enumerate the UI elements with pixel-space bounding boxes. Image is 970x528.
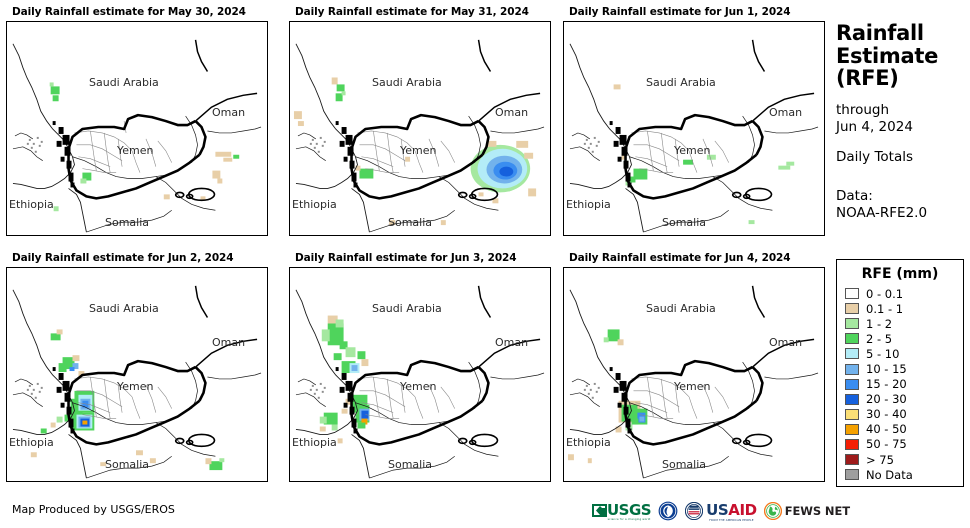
map-graphic [564,22,824,235]
map-graphic [7,268,267,481]
map-canvas[interactable]: Saudi Arabia Oman Yemen Ethiopia Somalia [6,21,268,236]
through-label: through [836,102,968,119]
legend-swatch-icon [845,439,859,450]
usgs-tagline: science for a changing world [608,519,651,522]
legend-label: 40 - 50 [866,422,907,436]
legend-item[interactable]: 2 - 5 [845,331,963,346]
panel-title: Daily Rainfall estimate for May 31, 2024 [295,6,557,18]
title-line-2: Estimate [836,45,968,68]
legend-swatch-icon [845,333,859,344]
legend-item[interactable]: 5 - 10 [845,346,963,361]
legend-label: 15 - 20 [866,377,907,391]
legend-item[interactable]: 40 - 50 [845,422,963,437]
map-canvas[interactable]: Saudi Arabia Oman Yemen Ethiopia Somalia [563,267,825,482]
title-line-3: (RFE) [836,67,968,90]
map-panel-4: Daily Rainfall estimate for Jun 2, 2024 [6,252,274,482]
legend-item[interactable]: 0.1 - 1 [845,301,963,316]
legend-label: 10 - 15 [866,362,907,376]
fews-net-globe-icon [764,502,782,520]
legend-item[interactable]: 30 - 40 [845,407,963,422]
legend-item[interactable]: 0 - 0.1 [845,286,963,301]
legend-swatch-icon [845,318,859,329]
legend-swatch-icon [845,454,859,465]
totals-label: Daily Totals [836,149,968,166]
fews-net-wordmark: FEWS NET [785,504,850,518]
panel-title: Daily Rainfall estimate for Jun 1, 2024 [569,6,831,18]
rfe-raster [31,329,225,470]
usaid-seal-icon [685,502,703,520]
data-source: NOAA-RFE2.0 [836,205,968,222]
legend-label: 20 - 30 [866,392,907,406]
panel-title: Daily Rainfall estimate for Jun 3, 2024 [295,252,557,264]
logo-strip: USGS science for a changing world USAID … [592,498,850,524]
legend-label: 1 - 2 [866,317,892,331]
map-graphic [7,22,267,235]
legend-item[interactable]: 50 - 75 [845,437,963,452]
map-panel-1: Daily Rainfall estimate for May 30, 2024 [6,6,274,236]
legend-panel: RFE (mm) 0 - 0.1 0.1 - 1 1 - 2 2 - 5 5 -… [836,259,964,487]
legend-item[interactable]: > 75 [845,452,963,467]
usgs-logo[interactable]: USGS science for a changing world [592,501,651,522]
map-canvas[interactable]: Saudi Arabia Oman Yemen Ethiopia Somalia [6,267,268,482]
legend-label: 5 - 10 [866,347,899,361]
usgs-wordmark: USGS [607,501,651,519]
legend-label: 2 - 5 [866,332,892,346]
legend-swatch-icon [845,424,859,435]
legend-item[interactable]: 15 - 20 [845,377,963,392]
panel-title: Daily Rainfall estimate for Jun 2, 2024 [12,252,274,264]
usaid-logo[interactable]: USAID FROM THE AMERICAN PEOPLE [685,501,757,522]
legend-label: 50 - 75 [866,437,907,451]
noaa-seal-icon [658,501,678,521]
map-canvas[interactable]: Saudi Arabia Oman Yemen Ethiopia Somalia [563,21,825,236]
through-block: through Jun 4, 2024 [836,102,968,136]
title-line-1: Rainfall [836,22,968,45]
noaa-logo[interactable] [658,501,678,521]
legend-label: 0.1 - 1 [866,302,903,316]
legend-label: > 75 [866,453,894,467]
map-panel-5: Daily Rainfall estimate for Jun 3, 2024 [289,252,557,482]
legend-swatch-icon [845,288,859,299]
legend-item[interactable]: 10 - 15 [845,361,963,376]
legend-swatch-icon [845,364,859,375]
legend-swatch-icon [845,394,859,405]
page-title: Rainfall Estimate (RFE) [836,22,968,90]
usaid-tagline: FROM THE AMERICAN PEOPLE [709,519,753,522]
data-label: Data: [836,188,968,205]
title-block: Rainfall Estimate (RFE) through Jun 4, 2… [836,22,968,221]
map-panel-3: Daily Rainfall estimate for Jun 1, 2024 [563,6,831,236]
legend-label: 30 - 40 [866,407,907,421]
map-graphic [290,22,550,235]
legend-swatch-icon [845,379,859,390]
legend-swatch-icon [845,303,859,314]
usaid-wordmark: USAID [706,501,757,519]
fews-net-logo[interactable]: FEWS NET [764,502,850,520]
usgs-mark-icon [592,503,607,520]
map-canvas[interactable]: Saudi Arabia Oman Yemen Ethiopia Somalia [289,267,551,482]
map-canvas[interactable]: Saudi Arabia Oman Yemen Ethiopia Somalia [289,21,551,236]
legend-label: 0 - 0.1 [866,287,903,301]
legend-item[interactable]: 1 - 2 [845,316,963,331]
legend-swatch-icon [845,348,859,359]
panel-title: Daily Rainfall estimate for May 30, 2024 [12,6,274,18]
legend-label: No Data [866,468,913,482]
map-graphic [290,268,550,481]
map-credit: Map Produced by USGS/EROS [12,503,175,516]
rfe-raster [614,84,795,224]
legend-title: RFE (mm) [837,266,963,282]
legend-item[interactable]: 20 - 30 [845,392,963,407]
legend-swatch-icon [845,469,859,480]
map-panel-2: Daily Rainfall estimate for May 31, 2024 [289,6,557,236]
map-panel-6: Daily Rainfall estimate for Jun 4, 2024 [563,252,831,482]
rfe-raster [568,329,647,463]
data-block: Data: NOAA-RFE2.0 [836,188,968,222]
map-graphic [564,268,824,481]
through-date: Jun 4, 2024 [836,119,968,136]
legend-item[interactable]: No Data [845,467,963,482]
legend-swatch-icon [845,409,859,420]
legend-rows: 0 - 0.1 0.1 - 1 1 - 2 2 - 5 5 - 10 10 - … [845,286,963,482]
panel-title: Daily Rainfall estimate for Jun 4, 2024 [569,252,831,264]
